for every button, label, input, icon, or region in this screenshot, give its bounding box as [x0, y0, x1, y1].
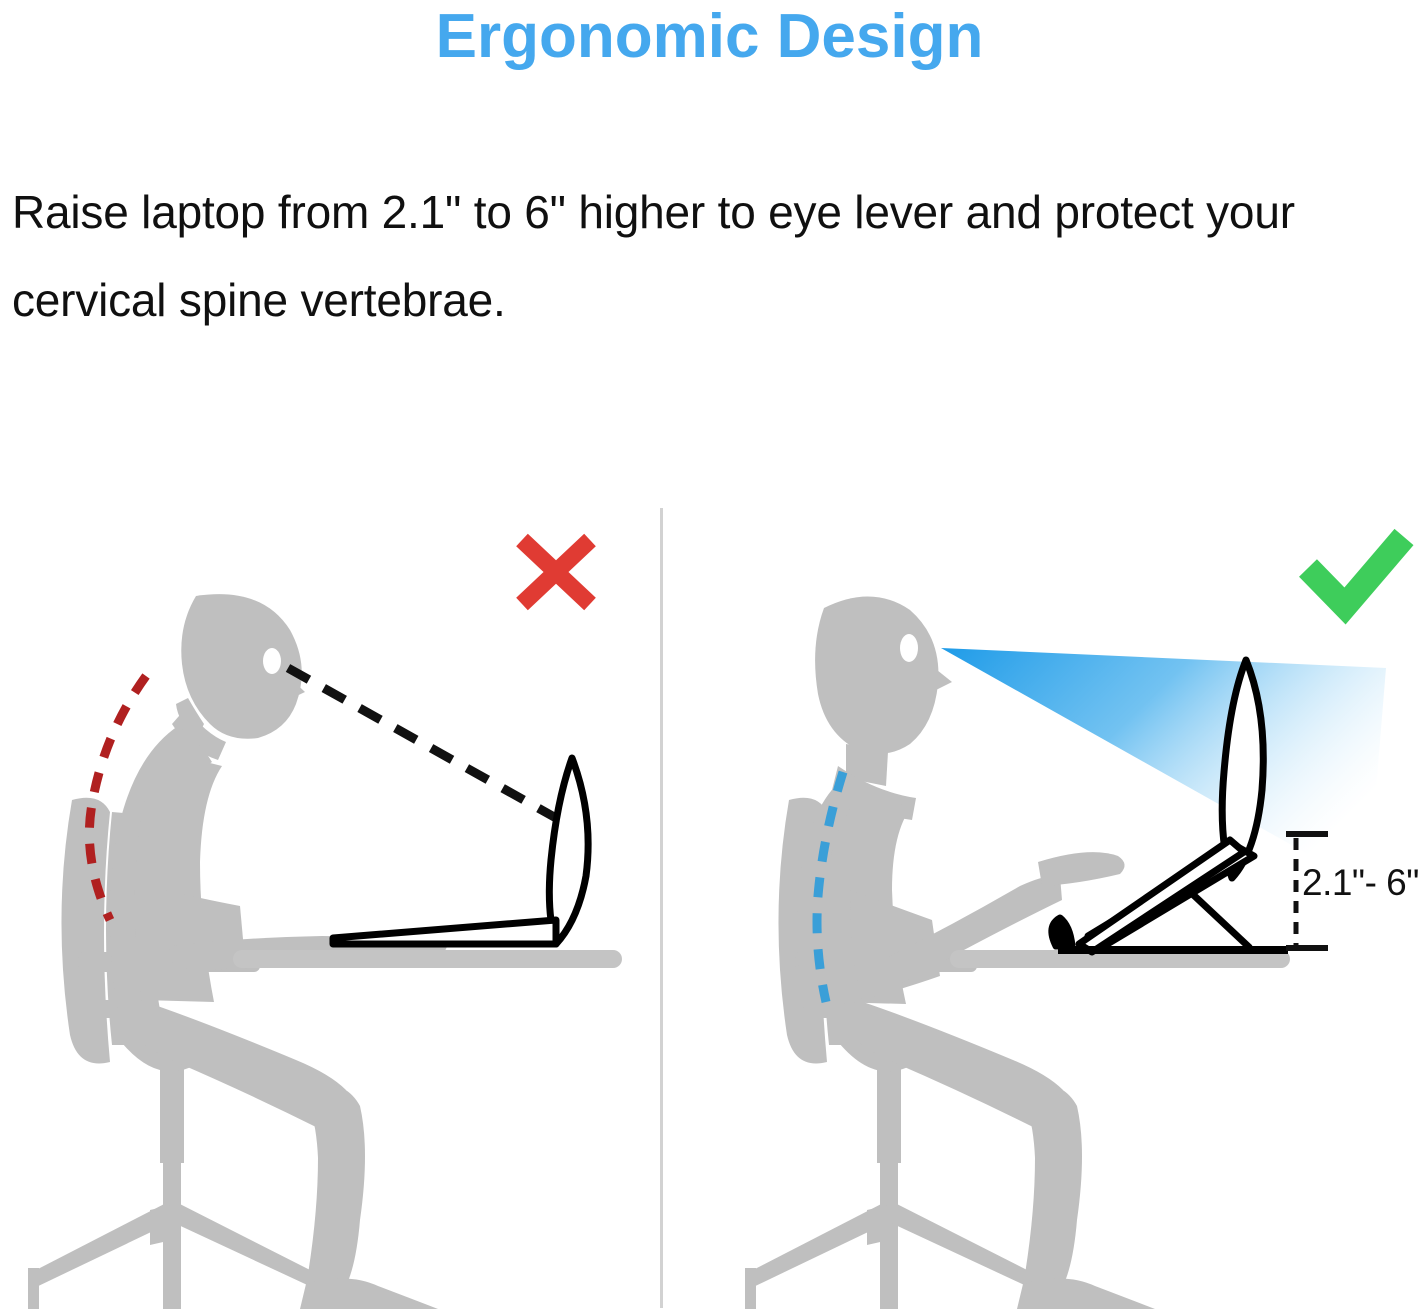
dimension-label: 2.1"- 6" [1302, 862, 1419, 904]
right-head [815, 596, 952, 753]
left-chair-base [28, 1150, 321, 1309]
check-icon [1308, 537, 1404, 606]
left-desk-surface [233, 950, 622, 968]
left-sight-line [288, 668, 556, 818]
left-laptop [333, 758, 588, 944]
vision-cone [941, 648, 1386, 888]
comparison-illustrations [0, 0, 1419, 1309]
right-chair-base [745, 1150, 1038, 1309]
infographic-page: Ergonomic Design Raise laptop from 2.1" … [0, 0, 1419, 1309]
left-figure-group [28, 594, 622, 1309]
right-figure-group [745, 596, 1386, 1309]
cross-icon [522, 540, 590, 604]
left-chair-cylinder [160, 1063, 184, 1163]
right-chair-cylinder [877, 1063, 901, 1163]
left-head [181, 594, 305, 739]
